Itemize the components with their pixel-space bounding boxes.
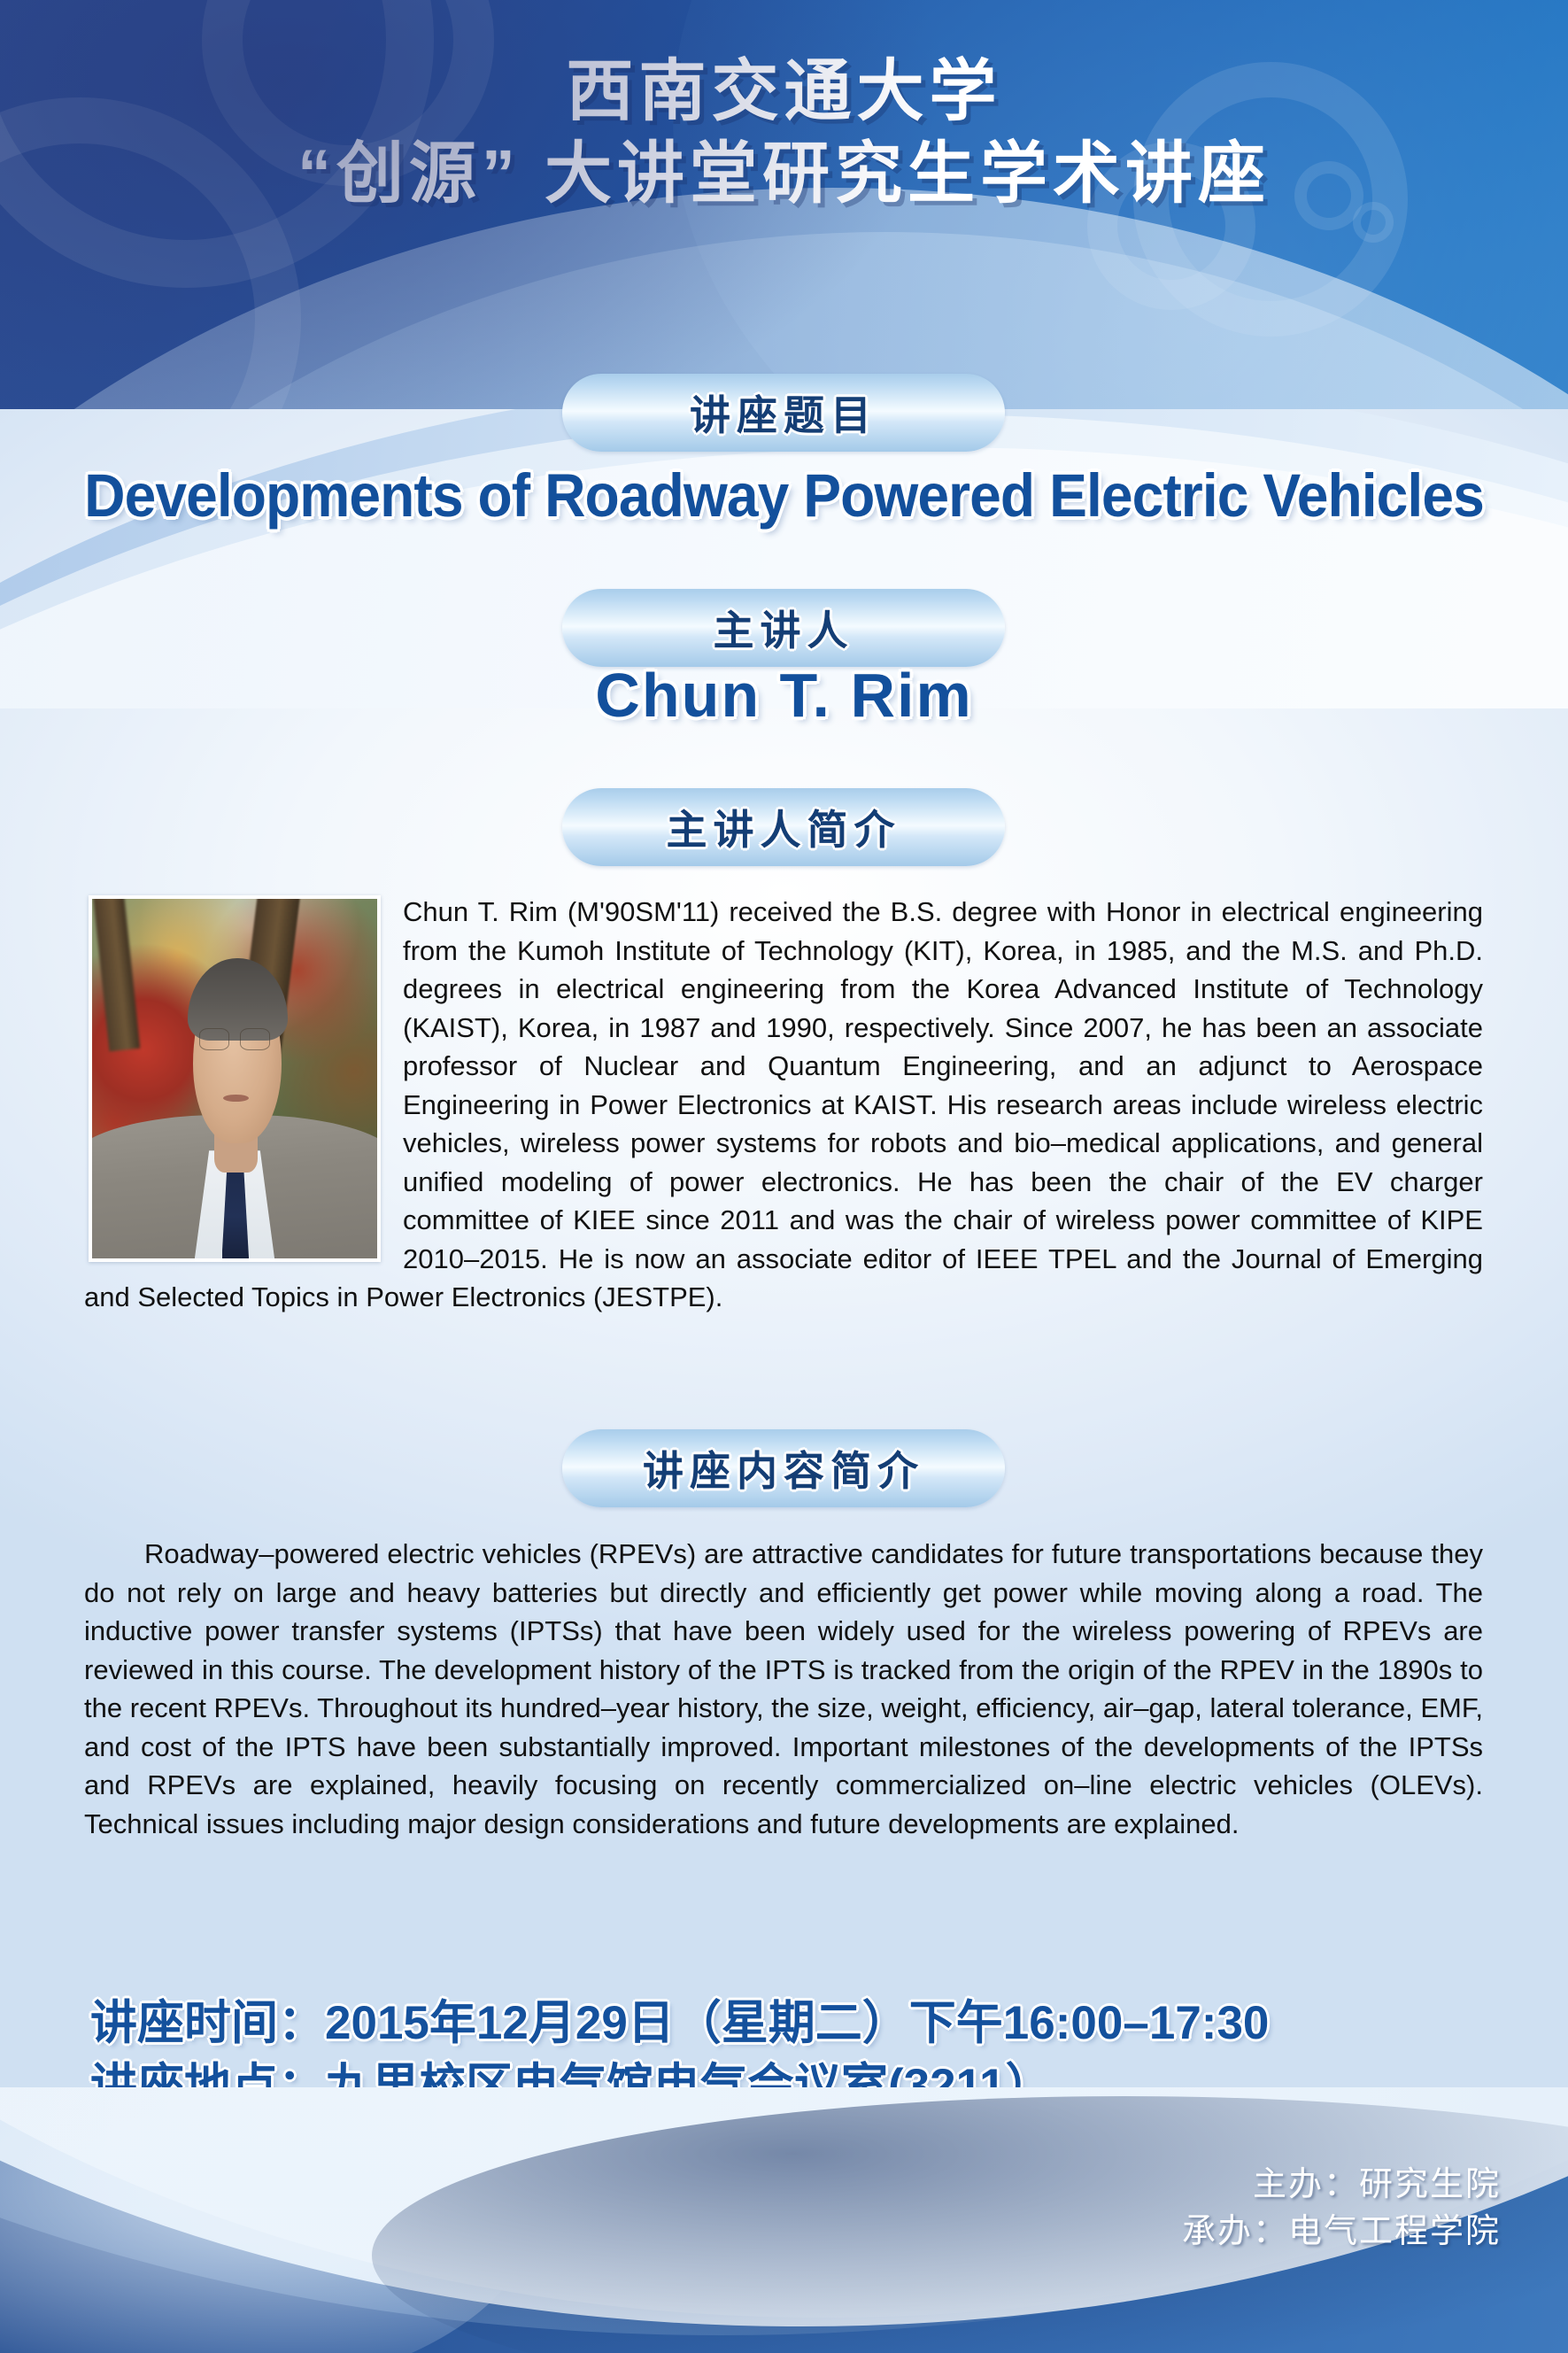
decorative-ring-icon [1133, 62, 1408, 337]
lecture-title-en: Developments of Roadway Powered Electric… [55, 461, 1513, 530]
badge-abstract: 讲座内容简介 [562, 1429, 1005, 1507]
lecture-time-line: 讲座时间：2015年12月29日（星期二）下午16:00–17:30 [90, 1985, 1269, 2053]
footer-credits: 主办：研究生院 承办：电气工程学院 [1182, 2162, 1501, 2256]
decorative-ring-icon [0, 0, 434, 288]
footer-co-organizer: 承办：电气工程学院 [1182, 2209, 1501, 2256]
badge-abstract-label: 讲座内容简介 [643, 1439, 924, 1498]
footer-organizer: 主办：研究生院 [1182, 2162, 1501, 2209]
poster-header: 西南交通大学 “创源” 大讲堂研究生学术讲座 [0, 0, 1568, 409]
decorative-ring-icon [202, 0, 494, 186]
speaker-bio-block: Chun T. Rim (M'90SM'11) received the B.S… [84, 893, 1483, 1317]
badge-speaker-bio-label: 主讲人简介 [667, 798, 901, 856]
series-name: “创源” 大讲堂研究生学术讲座 [0, 134, 1568, 216]
badge-speaker: 主讲人 [562, 589, 1005, 667]
decorative-ring-icon [0, 97, 301, 409]
speaker-name: Chun T. Rim [0, 660, 1568, 731]
badge-lecture-title-label: 讲座题目 [690, 383, 877, 442]
poster-header-title: 西南交通大学 “创源” 大讲堂研究生学术讲座 [0, 51, 1568, 215]
bio-photo-spacer [84, 893, 403, 1269]
decorative-ring-icon [1353, 202, 1394, 243]
poster-footer: 主办：研究生院 承办：电气工程学院 [0, 2087, 1568, 2353]
abstract-text: Roadway–powered electric vehicles (RPEVs… [84, 1535, 1483, 1843]
abstract-paragraph: Roadway–powered electric vehicles (RPEVs… [84, 1538, 1483, 1839]
badge-speaker-label: 主讲人 [714, 599, 854, 657]
badge-speaker-bio: 主讲人简介 [562, 788, 1005, 866]
decorative-ring-icon [1294, 161, 1363, 230]
badge-lecture-title: 讲座题目 [562, 374, 1005, 452]
university-name: 西南交通大学 [0, 51, 1568, 134]
poster-root: 西南交通大学 “创源” 大讲堂研究生学术讲座 讲座题目 Developments… [0, 0, 1568, 2353]
header-glow [673, 0, 1568, 409]
decorative-ring-icon [1087, 142, 1255, 310]
